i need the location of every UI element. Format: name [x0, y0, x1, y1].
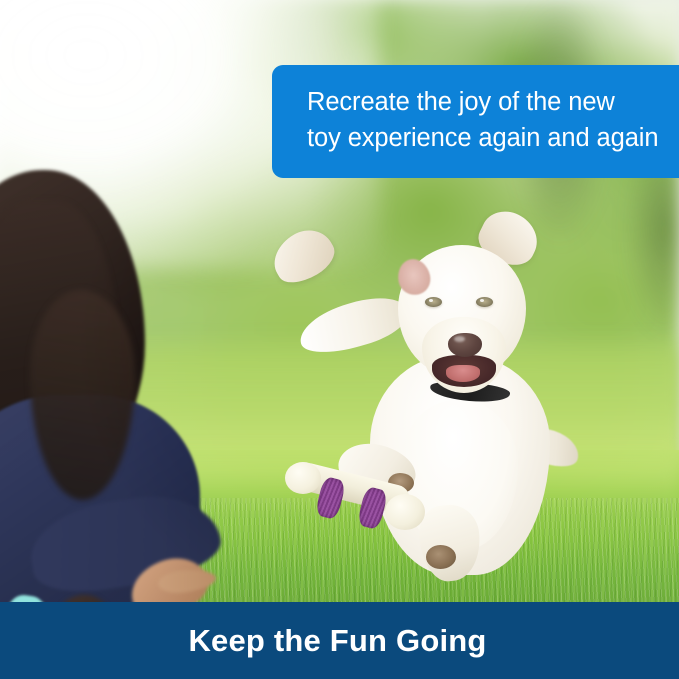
dog-left-eye-highlight	[429, 299, 433, 302]
dog-front-left-leg	[294, 288, 414, 361]
dog-rear-paw	[426, 545, 456, 569]
dog-right-eye-highlight	[480, 299, 484, 302]
dog-right-eye	[476, 297, 493, 307]
toy-bone-end-left	[285, 462, 321, 494]
bottom-banner: Keep the Fun Going	[0, 602, 679, 679]
dog-tongue	[446, 365, 480, 382]
promo-banner-image: Recreate the joy of the new toy experien…	[0, 0, 679, 679]
banner-title: Keep the Fun Going	[188, 623, 486, 659]
dog-left-eye	[425, 297, 442, 307]
callout-box: Recreate the joy of the new toy experien…	[272, 65, 679, 178]
chew-toy	[283, 452, 428, 538]
dog-nose	[448, 333, 482, 357]
toy-bone-end-right	[385, 494, 425, 530]
person-figure	[0, 170, 270, 602]
dog-nose-highlight	[454, 336, 465, 342]
callout-text: Recreate the joy of the new toy experien…	[307, 84, 663, 156]
